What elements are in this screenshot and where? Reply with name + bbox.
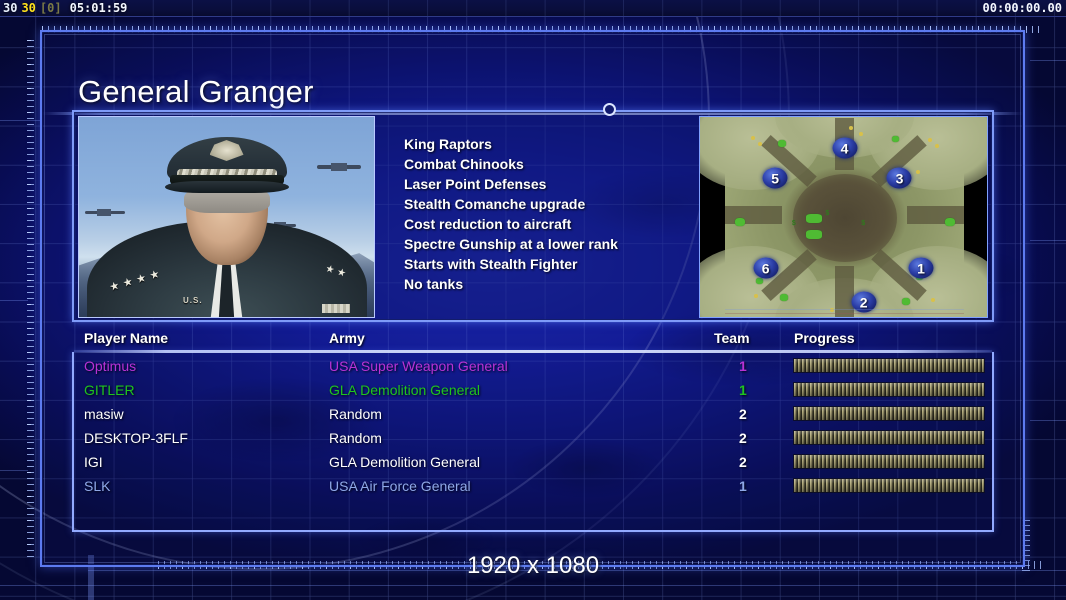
player-name: Optimus [84, 354, 136, 378]
map-start-position: 6 [753, 258, 778, 279]
map-road [725, 206, 782, 224]
player-name: masiw [84, 402, 124, 426]
table-row: DESKTOP-3FLF Random 2 [84, 426, 984, 450]
ability-item: Cost reduction to aircraft [404, 214, 694, 234]
player-army: USA Super Weapon General [329, 354, 508, 378]
player-name: IGI [84, 450, 103, 474]
column-header-player-name: Player Name [84, 330, 168, 346]
deco-line-bottom-2 [0, 585, 1066, 586]
map-overlay-line [725, 313, 964, 314]
map-supply-label: $ [825, 210, 829, 217]
table-row: SLK USA Air Force General 1 [84, 474, 984, 498]
ability-list: King Raptors Combat Chinooks Laser Point… [404, 134, 694, 294]
deco-line-left-2 [0, 300, 28, 301]
map-supply-cluster [806, 230, 822, 239]
player-progress-bar [794, 407, 984, 420]
divider-notch-icon [603, 103, 616, 116]
player-table-header: Player Name Army Team Progress [84, 330, 984, 352]
map-supply-label: $ [792, 220, 796, 227]
map-tree-icon [778, 140, 786, 147]
map-tree-icon [735, 218, 745, 226]
page-title: General Granger [78, 74, 314, 110]
map-oil-icon [931, 298, 935, 302]
map-start-position: 5 [763, 168, 788, 189]
map-supply-label: $ [861, 220, 865, 227]
general-info-box: ★★★★ ★★ U.S. King Raptors Combat Chinook… [72, 110, 994, 322]
player-progress-bar [794, 383, 984, 396]
general-portrait: ★★★★ ★★ U.S. [78, 116, 375, 318]
player-army: GLA Demolition General [329, 450, 480, 474]
top-status-bar: 30 30 [0] 05:01:59 00:00:00.00 [0, 0, 1066, 17]
player-team: 1 [739, 378, 747, 402]
player-team: 2 [739, 450, 747, 474]
portrait-ribbon-bar [322, 304, 350, 313]
map-tree-icon [892, 136, 899, 142]
map-tree-icon [902, 298, 910, 305]
column-header-army: Army [329, 330, 365, 346]
map-supply-cluster [806, 214, 822, 223]
table-header-divider [74, 350, 992, 353]
deco-line-left-3 [0, 470, 28, 471]
player-team: 1 [739, 354, 747, 378]
player-army: GLA Demolition General [329, 378, 480, 402]
map-oil-icon [859, 132, 863, 136]
table-row: GITLER GLA Demolition General 1 [84, 378, 984, 402]
deco-line-right-3 [1030, 420, 1066, 421]
player-army: Random [329, 426, 382, 450]
ability-item: King Raptors [404, 134, 694, 154]
table-row: Optimus USA Super Weapon General 1 [84, 354, 984, 378]
player-army: Random [329, 402, 382, 426]
map-road [835, 266, 854, 318]
ability-item: Starts with Stealth Fighter [404, 254, 694, 274]
resolution-caption: 1920 x 1080 [0, 552, 1066, 580]
ability-item: Combat Chinooks [404, 154, 694, 174]
player-team: 1 [739, 474, 747, 498]
player-team: 2 [739, 402, 747, 426]
portrait-us-insignia: U.S. [183, 297, 203, 305]
topbar-grid [0, 0, 1066, 16]
ability-item: Laser Point Defenses [404, 174, 694, 194]
player-name: DESKTOP-3FLF [84, 426, 188, 450]
main-panel: General Granger [40, 30, 1025, 567]
map-start-position: 3 [887, 168, 912, 189]
table-row: IGI GLA Demolition General 2 [84, 450, 984, 474]
map-oil-icon [754, 294, 758, 298]
deco-line-right-1 [1030, 60, 1066, 61]
map-road [907, 206, 964, 224]
player-name: SLK [84, 474, 110, 498]
aircraft-icon-2 [317, 163, 361, 171]
table-row: masiw Random 2 [84, 402, 984, 426]
aircraft-icon-1 [85, 209, 125, 216]
portrait-cap-brim [165, 181, 289, 193]
deco-line-right-2 [1030, 240, 1066, 241]
player-army: USA Air Force General [329, 474, 471, 498]
player-name: GITLER [84, 378, 135, 402]
map-start-position: 1 [908, 258, 933, 279]
map-tree-icon [945, 218, 955, 226]
map-tree-icon [756, 278, 763, 284]
player-progress-bar [794, 479, 984, 492]
map-start-position: 4 [832, 138, 857, 159]
player-progress-bar [794, 455, 984, 468]
column-header-progress: Progress [794, 330, 855, 346]
column-header-team: Team [714, 330, 750, 346]
ability-item: Stealth Comanche upgrade [404, 194, 694, 214]
ability-item: Spectre Gunship at a lower rank [404, 234, 694, 254]
map-tree-icon [780, 294, 788, 301]
loading-screen: 30 30 [0] 05:01:59 00:00:00.00 General G… [0, 0, 1066, 600]
player-progress-bar [794, 431, 984, 444]
deco-line-left-1 [0, 120, 40, 121]
map-terrain: $ $ $ [725, 118, 964, 318]
elapsed-timer: 00:00:00.00 [983, 1, 1062, 15]
player-progress-bar [794, 359, 984, 372]
player-rows: Optimus USA Super Weapon General 1 GITLE… [84, 354, 984, 498]
map-preview: $ $ $ [699, 116, 988, 318]
player-team: 2 [739, 426, 747, 450]
ability-item: No tanks [404, 274, 694, 294]
map-overlay-line [725, 309, 964, 310]
